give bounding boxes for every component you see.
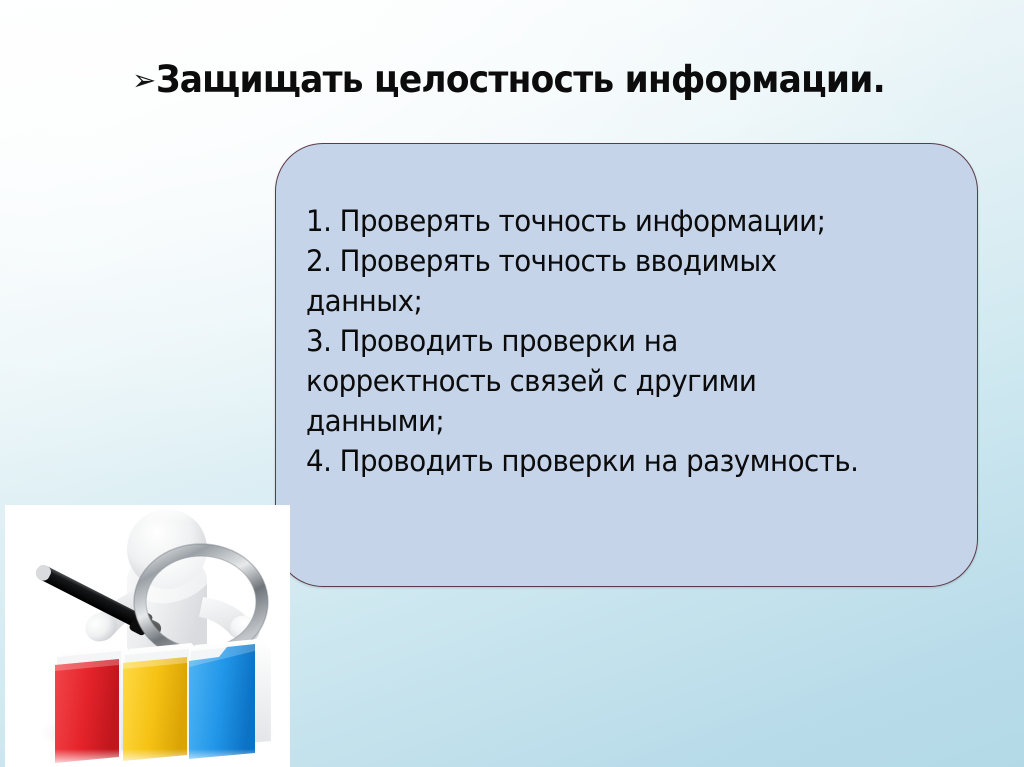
slide-title: ➢ Защищать целостность информации.	[132, 61, 940, 100]
callout-line: 2. Проверять точность вводимых	[306, 241, 930, 281]
arrow-bullet-icon: ➢	[132, 66, 155, 95]
slide-canvas: ➢ Защищать целостность информации. 1. Пр…	[0, 0, 1024, 767]
callout-line: корректность связей с другими	[306, 361, 930, 401]
blue-folder	[189, 639, 271, 759]
illustration-svg	[5, 505, 290, 767]
yellow-folder-front	[123, 657, 187, 761]
red-folder-front	[55, 659, 119, 763]
callout-line: данных;	[306, 281, 930, 321]
callout-line: 3. Проводить проверки на	[306, 321, 930, 361]
callout-text-block: 1. Проверять точность информации; 2. Про…	[306, 201, 959, 481]
callout-box: 1. Проверять точность информации; 2. Про…	[275, 143, 978, 587]
callout-line: 1. Проверять точность информации;	[306, 201, 930, 241]
slide-title-text: Защищать целостность информации.	[156, 61, 885, 100]
magnifying-glass-folders-illustration	[5, 505, 290, 767]
callout-line: 4. Проводить проверки на разумность.	[306, 441, 930, 481]
callout-line: данными;	[306, 401, 930, 441]
